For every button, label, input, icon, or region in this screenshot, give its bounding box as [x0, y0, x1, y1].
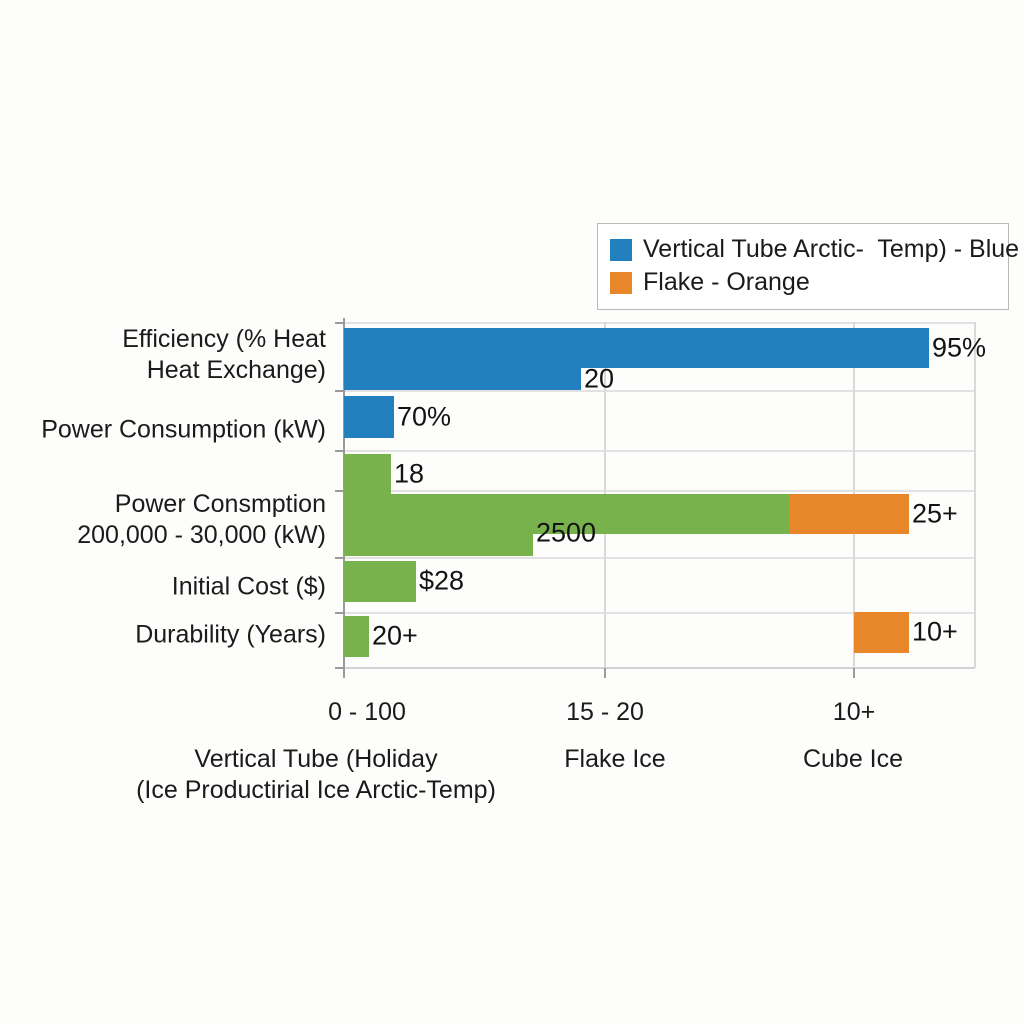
bar-power-consumption-70[interactable] — [344, 396, 394, 438]
x-axis-tick-label-1: 15 - 20 — [566, 697, 644, 727]
bar-segment-green — [344, 616, 369, 657]
bar-label-power-consmption-2500: 2500 — [536, 520, 596, 547]
y-axis-label-power-consmption: Power Consmption 200,000 - 30,000 (kW) — [0, 489, 326, 551]
y-axis-label-efficiency: Efficiency (% Heat Heat Exchange) — [0, 324, 326, 386]
gridline-h-6 — [343, 667, 975, 669]
x-axis-tick-2 — [853, 668, 855, 678]
bar-label-durability-20plus: 20+ — [372, 623, 418, 650]
bar-label-efficiency-20: 20 — [584, 366, 614, 393]
x-axis-tick-1 — [604, 668, 606, 678]
y-axis-tick-2 — [335, 450, 344, 452]
y-axis-label-power-consumption: Power Consumption (kW) — [0, 415, 326, 446]
bar-power-consmption-18[interactable] — [344, 454, 391, 495]
bar-label-initial-cost-28: $28 — [419, 568, 464, 595]
y-axis-tick-0 — [335, 322, 344, 324]
bar-segment-green — [344, 454, 391, 495]
orange-swatch-icon — [610, 272, 632, 294]
gridline-v-3 — [974, 322, 976, 668]
bar-efficiency-20[interactable] — [344, 368, 581, 390]
plot-area: 95% 20 70% 18 25+ 2500 $28 — [343, 322, 975, 668]
legend-item-flake: Flake - Orange — [610, 266, 996, 299]
legend-label-vertical-tube: Vertical Tube Arctic- Temp) - Blue — [643, 235, 1019, 264]
legend-item-vertical-tube: Vertical Tube Arctic- Temp) - Blue — [610, 233, 996, 266]
y-axis-label-initial-cost: Initial Cost ($) — [0, 572, 326, 603]
bar-segment-orange — [854, 612, 909, 653]
gridline-h-3 — [343, 490, 975, 492]
gridline-h-0 — [343, 322, 975, 324]
y-axis-tick-1 — [335, 390, 344, 392]
bar-label-power-consumption-70: 70% — [397, 404, 451, 431]
chart-legend: Vertical Tube Arctic- Temp) - Blue Flake… — [597, 223, 1009, 310]
y-axis-tick-5 — [335, 612, 344, 614]
y-axis-tick-4 — [335, 557, 344, 559]
gridline-h-1 — [343, 390, 975, 392]
gridline-h-4 — [343, 557, 975, 559]
bar-power-consmption-2500[interactable] — [344, 534, 533, 556]
x-axis-group-label-cube-ice: Cube Ice — [733, 744, 973, 775]
legend-label-flake: Flake - Orange — [643, 268, 810, 297]
blue-swatch-icon — [610, 239, 632, 261]
bar-initial-cost-28[interactable] — [344, 561, 416, 602]
bar-segment-blue — [344, 368, 581, 390]
bar-segment-green — [344, 534, 533, 556]
bar-label-power-consmption-18: 18 — [394, 461, 424, 488]
x-axis-group-label-flake-ice: Flake Ice — [495, 744, 735, 775]
y-axis-tick-3 — [335, 490, 344, 492]
bar-segment-blue — [344, 328, 929, 368]
bar-label-durability-10plus: 10+ — [912, 619, 958, 646]
bar-segment-orange — [789, 494, 909, 534]
bar-durability-10plus[interactable] — [854, 612, 909, 653]
bar-segment-green — [344, 561, 416, 602]
bar-segment-blue — [344, 396, 394, 438]
bar-label-efficiency-95: 95% — [932, 335, 986, 362]
gridline-h-2 — [343, 450, 975, 452]
x-axis-tick-label-2: 10+ — [833, 697, 875, 727]
x-axis-tick-0 — [343, 668, 345, 678]
bar-power-consmption-25plus[interactable] — [344, 494, 909, 534]
bar-label-power-consmption-25plus: 25+ — [912, 501, 958, 528]
y-axis-label-durability: Durability (Years) — [0, 620, 326, 651]
bar-efficiency-95[interactable] — [344, 328, 929, 368]
x-axis-tick-label-0: 0 - 100 — [328, 697, 406, 727]
bar-durability-20plus[interactable] — [344, 616, 369, 657]
bar-chart: Vertical Tube Arctic- Temp) - Blue Flake… — [0, 0, 1024, 1024]
